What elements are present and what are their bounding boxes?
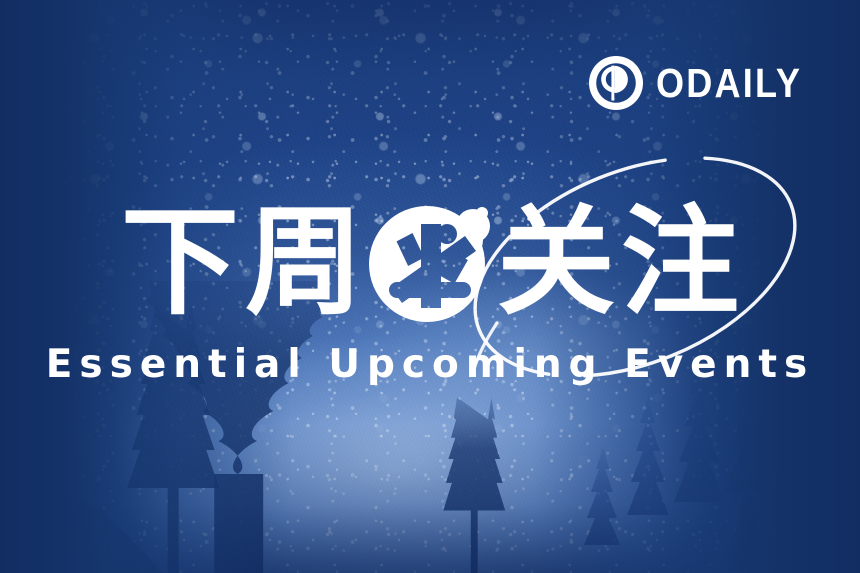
subtitle: Essential Upcoming Events xyxy=(0,345,860,384)
odaily-circle-p-icon xyxy=(589,56,643,110)
page-title: 下 周 xyxy=(0,196,860,328)
odaily-upcoming-events-banner: ODAILY 下 周 xyxy=(0,0,860,573)
headline-char-zhou: 周 xyxy=(245,203,363,321)
headline-char-guan: 关 xyxy=(497,203,615,321)
headline-char-zhu: 注 xyxy=(621,203,739,321)
bi-character-badge-icon xyxy=(365,196,495,328)
odaily-logo[interactable]: ODAILY xyxy=(589,56,822,110)
headline-char-xia: 下 xyxy=(121,203,239,321)
odaily-wordmark: ODAILY xyxy=(656,63,802,104)
